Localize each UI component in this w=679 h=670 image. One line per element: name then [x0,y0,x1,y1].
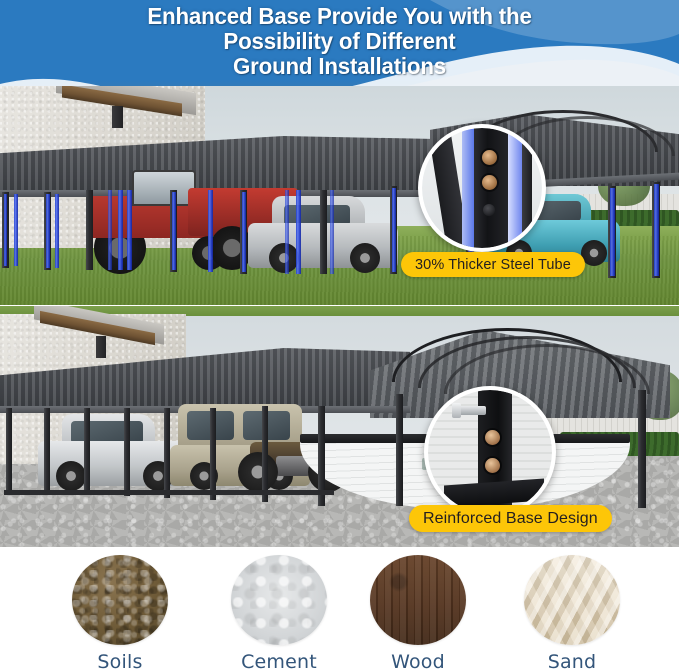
title-line-2: Possibility of Different [10,29,669,54]
weld-dot-icon [483,204,495,216]
post-highlight [285,190,289,274]
post-highlight [296,190,301,274]
carport-post [164,408,170,498]
carport-post [124,408,130,496]
carport-post-right [396,394,403,506]
carport-post-right [638,390,646,508]
reinforced-base-callout [424,386,556,518]
carport-post [262,406,268,502]
carport-post [44,408,50,492]
reinforced-base-callout-image [428,390,552,514]
post-highlight [118,190,123,270]
tube-blue-stripe-right [508,128,522,248]
ground-materials-strip: Soils Cement Wood Sand [0,547,679,670]
house-eave-post [112,106,123,128]
photo-panel-bottom: Reinforced Base Design [0,306,679,547]
material-item-soils: Soils [35,555,205,670]
material-label-wood: Wood [333,651,503,670]
badge-reinforced-base-design: Reinforced Base Design [409,505,612,532]
post-highlight [242,192,246,272]
tractor-cab [132,170,196,206]
wood-swatch-icon [370,555,466,645]
title-line-3: Ground Installations [10,54,669,79]
sedan-front-wheel [350,243,380,273]
page-title: Enhanced Base Provide You with the Possi… [10,4,669,79]
post-highlight [55,194,59,268]
post-highlight [4,194,7,266]
carport-post [86,190,93,270]
post-highlight [654,184,659,276]
post-highlight [172,192,176,270]
material-label-soils: Soils [35,651,205,670]
bolt-icon [485,430,500,445]
photo-panel-top: 30% Thicker Steel Tube [0,86,679,305]
anchor-bolt-head-icon [452,403,461,418]
teal-car-wheel [581,240,607,266]
post-highlight [14,194,18,266]
steel-tube-callout-image [422,128,542,248]
carport-base-rail [4,490,334,495]
post-highlight [108,190,112,270]
bolt-icon [482,150,497,165]
material-item-wood: Wood [333,555,503,670]
post-highlight [127,190,132,270]
sedan-rear-wheel [269,243,299,273]
carport-post [210,408,216,500]
badge-reinforced-base-design-label: Reinforced Base Design [423,510,598,528]
post-highlight [392,188,396,272]
steel-tube-callout [418,124,546,252]
title-line-1: Enhanced Base Provide You with the [10,4,669,29]
carport-post [320,190,327,274]
house-eave-post [96,336,106,358]
badge-thicker-steel-tube-label: 30% Thicker Steel Tube [415,257,571,273]
carport-post [84,408,90,494]
white-sedan-wheel [56,461,86,491]
sand-swatch-icon [524,555,620,645]
material-item-sand: Sand [487,555,657,670]
cement-swatch-icon [231,555,327,645]
motorcycle-rear-wheel [238,452,278,492]
badge-thicker-steel-tube: 30% Thicker Steel Tube [401,252,585,277]
bolt-icon [482,175,497,190]
product-feature-image: Enhanced Base Provide You with the Possi… [0,0,679,670]
post-highlight [208,190,213,272]
carport-post [6,408,12,490]
post-highlight [610,188,615,276]
tube-blue-stripe [462,128,474,248]
post-highlight [46,194,50,268]
base-plate-flange [444,479,544,508]
bolt-icon [485,458,500,473]
tube-edge-right [522,128,532,248]
post-highlight [330,190,334,274]
material-label-sand: Sand [487,651,657,670]
soils-swatch-icon [72,555,168,645]
